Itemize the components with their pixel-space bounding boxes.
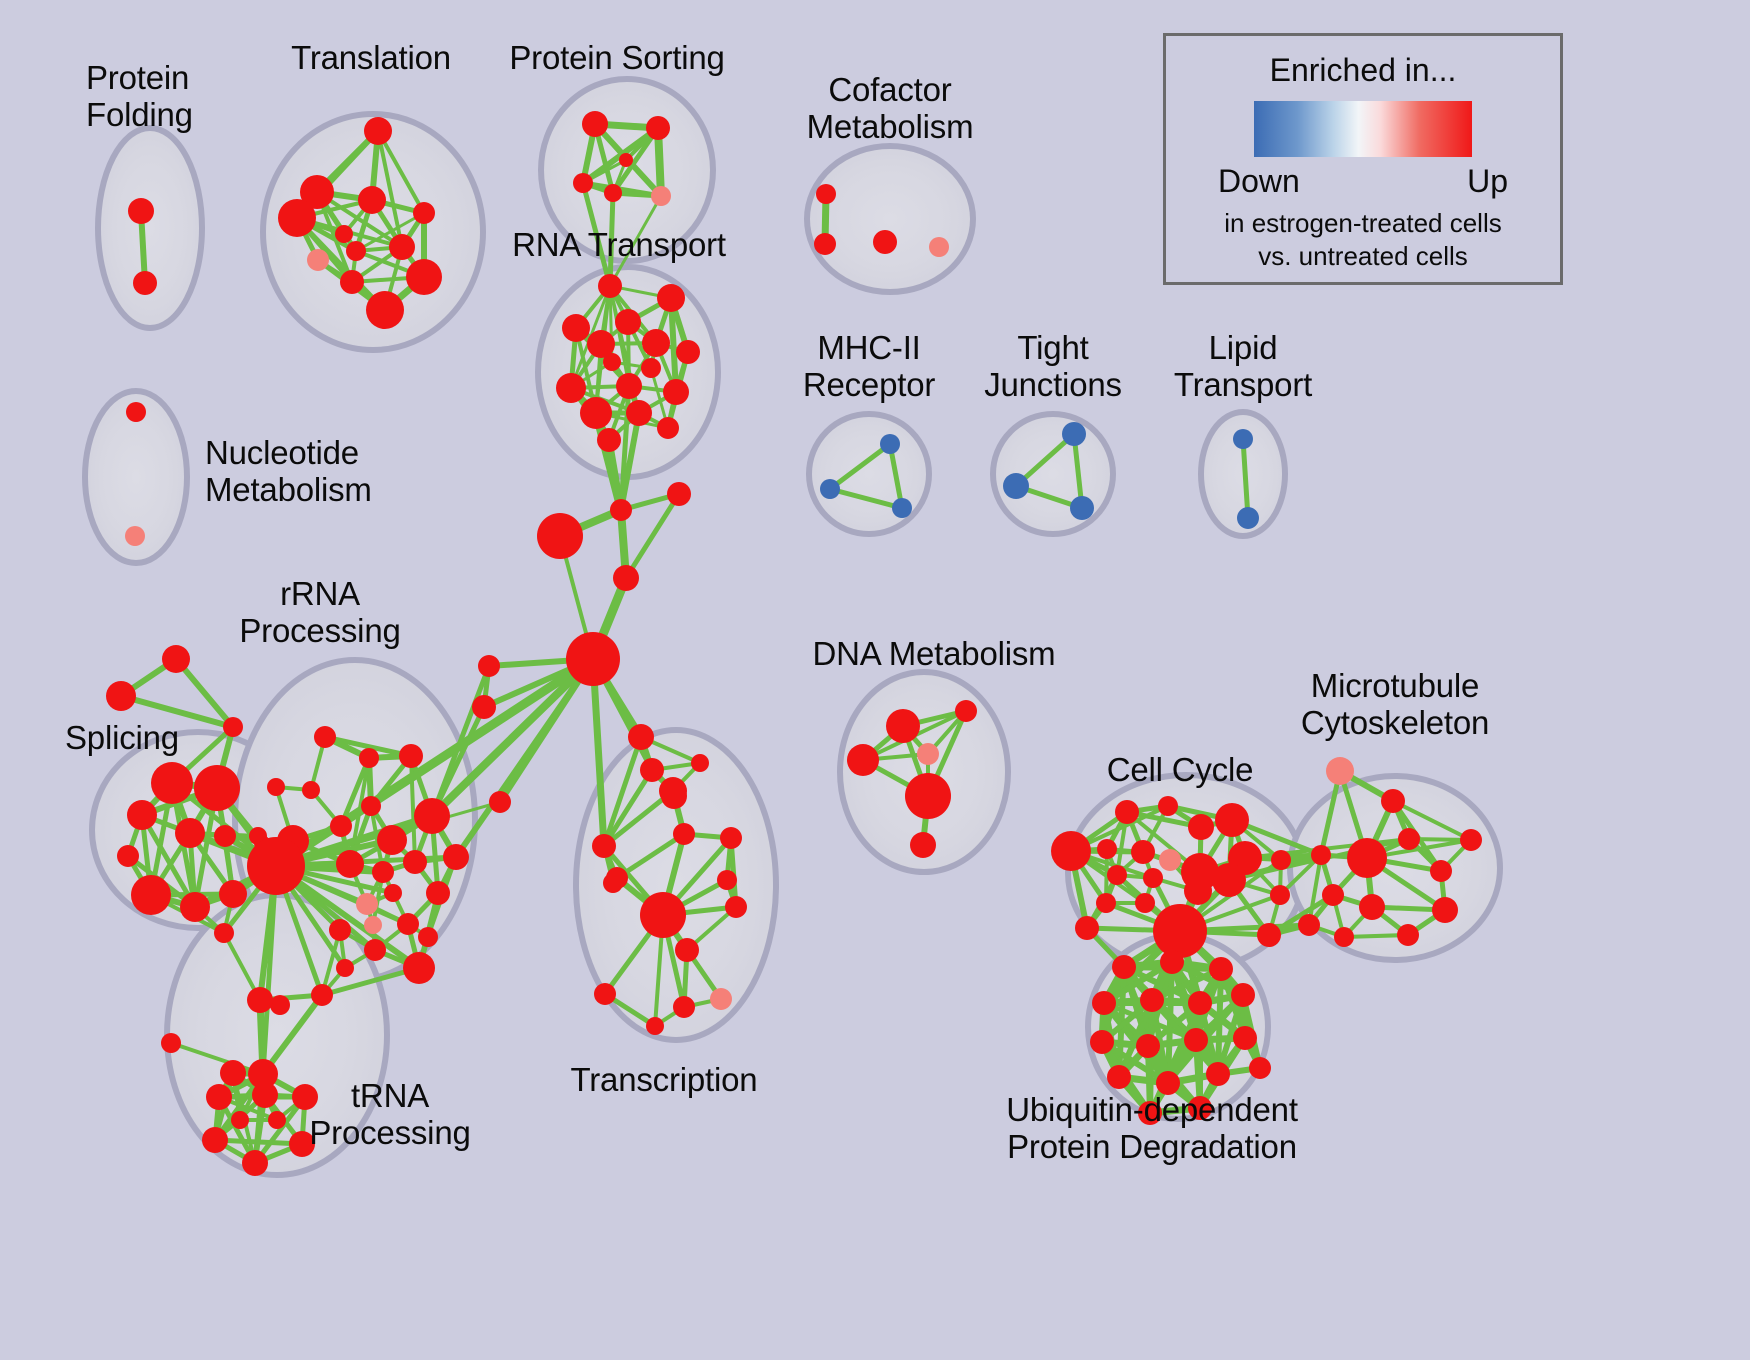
legend-color-gradient bbox=[1254, 101, 1472, 157]
cluster-label-dna-metabolism: DNA Metabolism bbox=[813, 636, 1056, 673]
network-node[interactable] bbox=[329, 919, 351, 941]
network-node[interactable] bbox=[206, 1084, 232, 1110]
network-node[interactable] bbox=[1003, 473, 1029, 499]
network-node[interactable] bbox=[377, 825, 407, 855]
network-node[interactable] bbox=[566, 632, 620, 686]
legend-up-label: Up bbox=[1467, 163, 1508, 200]
network-node[interactable] bbox=[106, 681, 136, 711]
network-node[interactable] bbox=[1381, 789, 1405, 813]
network-node[interactable] bbox=[619, 153, 633, 167]
network-node[interactable] bbox=[403, 952, 435, 984]
network-node[interactable] bbox=[330, 815, 352, 837]
network-node[interactable] bbox=[202, 1127, 228, 1153]
network-node[interactable] bbox=[615, 309, 641, 335]
network-node[interactable] bbox=[657, 284, 685, 312]
network-node[interactable] bbox=[389, 234, 415, 260]
network-node[interactable] bbox=[403, 850, 427, 874]
network-node[interactable] bbox=[1062, 422, 1086, 446]
network-node[interactable] bbox=[880, 434, 900, 454]
network-node[interactable] bbox=[252, 1082, 278, 1108]
network-node[interactable] bbox=[562, 314, 590, 342]
network-node[interactable] bbox=[663, 379, 689, 405]
network-node[interactable] bbox=[161, 1033, 181, 1053]
network-node[interactable] bbox=[151, 762, 193, 804]
network-node[interactable] bbox=[1298, 914, 1320, 936]
network-node[interactable] bbox=[194, 765, 240, 811]
network-node[interactable] bbox=[125, 526, 145, 546]
network-node[interactable] bbox=[816, 184, 836, 204]
network-node[interactable] bbox=[1398, 828, 1420, 850]
cluster-label-cell-cycle: Cell Cycle bbox=[1107, 752, 1254, 789]
cluster-label-nucleotide-metabolism: Nucleotide Metabolism bbox=[205, 435, 372, 509]
network-node[interactable] bbox=[905, 773, 951, 819]
network-node[interactable] bbox=[231, 1111, 249, 1129]
network-node[interactable] bbox=[1311, 845, 1331, 865]
network-node[interactable] bbox=[302, 781, 320, 799]
network-node[interactable] bbox=[676, 340, 700, 364]
network-node[interactable] bbox=[873, 230, 897, 254]
network-node[interactable] bbox=[1206, 1062, 1230, 1086]
network-node[interactable] bbox=[582, 111, 608, 137]
network-node[interactable] bbox=[955, 700, 977, 722]
cluster-label-transcription: Transcription bbox=[571, 1062, 758, 1099]
network-node[interactable] bbox=[1397, 924, 1419, 946]
network-node[interactable] bbox=[1097, 839, 1117, 859]
network-node[interactable] bbox=[1215, 803, 1249, 837]
network-node[interactable] bbox=[268, 1111, 286, 1129]
network-node[interactable] bbox=[220, 1060, 246, 1086]
network-node[interactable] bbox=[364, 117, 392, 145]
network-node[interactable] bbox=[886, 709, 920, 743]
network-node[interactable] bbox=[1131, 840, 1155, 864]
network-node[interactable] bbox=[1233, 429, 1253, 449]
legend-box: Enriched in... Down Up in estrogen-treat… bbox=[1163, 33, 1563, 285]
network-node[interactable] bbox=[820, 479, 840, 499]
network-node[interactable] bbox=[366, 291, 404, 329]
network-node[interactable] bbox=[1096, 893, 1116, 913]
network-node[interactable] bbox=[573, 173, 593, 193]
network-node[interactable] bbox=[1271, 850, 1291, 870]
network-node[interactable] bbox=[556, 373, 586, 403]
network-node[interactable] bbox=[1092, 991, 1116, 1015]
network-node[interactable] bbox=[214, 825, 236, 847]
network-node[interactable] bbox=[180, 892, 210, 922]
network-node[interactable] bbox=[1432, 897, 1458, 923]
network-node[interactable] bbox=[626, 400, 652, 426]
network-node[interactable] bbox=[336, 959, 354, 977]
network-node[interactable] bbox=[278, 199, 316, 237]
cluster-hull-cofactor-metabolism[interactable] bbox=[807, 146, 973, 292]
network-node[interactable] bbox=[311, 984, 333, 1006]
network-node[interactable] bbox=[1159, 849, 1181, 871]
network-node[interactable] bbox=[1257, 923, 1281, 947]
network-node[interactable] bbox=[592, 834, 616, 858]
network-node[interactable] bbox=[1136, 1034, 1160, 1058]
network-node[interactable] bbox=[640, 758, 664, 782]
legend-title: Enriched in... bbox=[1270, 52, 1457, 89]
network-node[interactable] bbox=[443, 844, 469, 870]
network-node[interactable] bbox=[1107, 1065, 1131, 1089]
network-node[interactable] bbox=[640, 892, 686, 938]
network-node[interactable] bbox=[725, 896, 747, 918]
network-node[interactable] bbox=[307, 249, 329, 271]
network-node[interactable] bbox=[1188, 814, 1214, 840]
network-node[interactable] bbox=[413, 202, 435, 224]
network-node[interactable] bbox=[478, 655, 500, 677]
network-node[interactable] bbox=[720, 827, 742, 849]
network-node[interactable] bbox=[847, 744, 879, 776]
network-node[interactable] bbox=[314, 726, 336, 748]
network-node[interactable] bbox=[1326, 757, 1354, 785]
cluster-label-rna-transport: RNA Transport bbox=[512, 227, 726, 264]
network-node[interactable] bbox=[426, 881, 450, 905]
network-node[interactable] bbox=[610, 499, 632, 521]
legend-end-labels: Down Up bbox=[1218, 163, 1508, 200]
network-node[interactable] bbox=[1184, 877, 1212, 905]
network-node[interactable] bbox=[214, 923, 234, 943]
network-node[interactable] bbox=[133, 271, 157, 295]
network-node[interactable] bbox=[162, 645, 190, 673]
network-node[interactable] bbox=[1184, 1028, 1208, 1052]
legend-down-label: Down bbox=[1218, 163, 1300, 200]
network-node[interactable] bbox=[1430, 860, 1452, 882]
cluster-label-trna-processing: tRNA Processing bbox=[309, 1078, 470, 1152]
network-node[interactable] bbox=[597, 428, 621, 452]
network-node[interactable] bbox=[673, 823, 695, 845]
network-node[interactable] bbox=[414, 798, 450, 834]
cluster-label-mhc-ii-receptor: MHC-II Receptor bbox=[803, 330, 935, 404]
network-node[interactable] bbox=[537, 513, 583, 559]
network-node[interactable] bbox=[1188, 991, 1212, 1015]
network-node[interactable] bbox=[364, 916, 382, 934]
network-node[interactable] bbox=[646, 116, 670, 140]
network-node[interactable] bbox=[1075, 916, 1099, 940]
cluster-label-protein-sorting: Protein Sorting bbox=[509, 40, 724, 77]
network-node[interactable] bbox=[667, 482, 691, 506]
enrichment-map-figure: Protein FoldingTranslationProtein Sortin… bbox=[0, 0, 1750, 1360]
network-node[interactable] bbox=[1231, 983, 1255, 1007]
network-node[interactable] bbox=[1237, 507, 1259, 529]
network-node[interactable] bbox=[372, 861, 394, 883]
network-node[interactable] bbox=[361, 796, 381, 816]
network-node[interactable] bbox=[580, 397, 612, 429]
network-node[interactable] bbox=[1107, 865, 1127, 885]
network-node[interactable] bbox=[646, 1017, 664, 1035]
network-node[interactable] bbox=[1140, 988, 1164, 1012]
network-node[interactable] bbox=[489, 791, 511, 813]
network-node[interactable] bbox=[1070, 496, 1094, 520]
network-node[interactable] bbox=[1233, 1026, 1257, 1050]
network-node[interactable] bbox=[603, 873, 623, 893]
network-node[interactable] bbox=[126, 402, 146, 422]
network-node[interactable] bbox=[1209, 957, 1233, 981]
network-node[interactable] bbox=[128, 198, 154, 224]
legend-caption-line1: in estrogen-treated cells bbox=[1224, 208, 1501, 239]
network-node[interactable] bbox=[673, 996, 695, 1018]
network-node[interactable] bbox=[628, 724, 654, 750]
cluster-label-rrna-processing: rRNA Processing bbox=[239, 576, 400, 650]
network-node[interactable] bbox=[604, 184, 622, 202]
network-node[interactable] bbox=[1270, 885, 1290, 905]
cluster-label-splicing: Splicing bbox=[65, 720, 179, 757]
network-node[interactable] bbox=[472, 695, 496, 719]
network-node[interactable] bbox=[219, 880, 247, 908]
network-node[interactable] bbox=[641, 358, 661, 378]
cluster-label-cofactor-metabolism: Cofactor Metabolism bbox=[807, 72, 974, 146]
network-node[interactable] bbox=[1135, 893, 1155, 913]
network-node[interactable] bbox=[892, 498, 912, 518]
cluster-label-tight-junctions: Tight Junctions bbox=[984, 330, 1122, 404]
network-node[interactable] bbox=[223, 717, 243, 737]
cluster-hull-protein-folding[interactable] bbox=[98, 128, 202, 328]
network-node[interactable] bbox=[127, 800, 157, 830]
network-node[interactable] bbox=[616, 373, 642, 399]
cluster-label-microtubule: Microtubule Cytoskeleton bbox=[1301, 668, 1489, 742]
network-node[interactable] bbox=[814, 233, 836, 255]
network-node[interactable] bbox=[418, 927, 438, 947]
network-node[interactable] bbox=[642, 329, 670, 357]
network-node[interactable] bbox=[1347, 838, 1387, 878]
network-node[interactable] bbox=[399, 744, 423, 768]
network-node[interactable] bbox=[358, 186, 386, 214]
network-node[interactable] bbox=[247, 987, 273, 1013]
network-node[interactable] bbox=[270, 995, 290, 1015]
network-node[interactable] bbox=[598, 274, 622, 298]
network-node[interactable] bbox=[117, 845, 139, 867]
network-node[interactable] bbox=[131, 875, 171, 915]
network-node[interactable] bbox=[336, 850, 364, 878]
network-node[interactable] bbox=[356, 893, 378, 915]
network-node[interactable] bbox=[613, 565, 639, 591]
network-node[interactable] bbox=[1160, 950, 1184, 974]
network-node[interactable] bbox=[1051, 831, 1091, 871]
network-node[interactable] bbox=[1143, 868, 1163, 888]
network-node[interactable] bbox=[1153, 904, 1207, 958]
network-node[interactable] bbox=[917, 743, 939, 765]
network-node[interactable] bbox=[346, 241, 366, 261]
network-node[interactable] bbox=[406, 259, 442, 295]
network-node[interactable] bbox=[651, 186, 671, 206]
network-node[interactable] bbox=[1090, 1030, 1114, 1054]
network-node[interactable] bbox=[267, 778, 285, 796]
cluster-label-ubiquitin: Ubiquitin-dependent Protein Degradation bbox=[1006, 1092, 1298, 1166]
network-node[interactable] bbox=[359, 748, 379, 768]
network-node[interactable] bbox=[1158, 796, 1178, 816]
network-node[interactable] bbox=[247, 837, 305, 895]
network-node[interactable] bbox=[1115, 800, 1139, 824]
cluster-label-lipid-transport: Lipid Transport bbox=[1174, 330, 1312, 404]
network-node[interactable] bbox=[364, 939, 386, 961]
cluster-label-translation: Translation bbox=[291, 40, 451, 77]
network-node[interactable] bbox=[691, 754, 709, 772]
network-node[interactable] bbox=[657, 417, 679, 439]
network-node[interactable] bbox=[1112, 955, 1136, 979]
network-node[interactable] bbox=[661, 783, 687, 809]
network-node[interactable] bbox=[1460, 829, 1482, 851]
network-node[interactable] bbox=[384, 884, 402, 902]
network-node[interactable] bbox=[675, 938, 699, 962]
network-node[interactable] bbox=[335, 225, 353, 243]
network-node[interactable] bbox=[710, 988, 732, 1010]
network-node[interactable] bbox=[1322, 884, 1344, 906]
network-node[interactable] bbox=[175, 818, 205, 848]
network-node[interactable] bbox=[594, 983, 616, 1005]
network-node[interactable] bbox=[1359, 894, 1385, 920]
network-node[interactable] bbox=[340, 270, 364, 294]
network-node[interactable] bbox=[242, 1150, 268, 1176]
network-node[interactable] bbox=[1212, 863, 1246, 897]
network-node[interactable] bbox=[1334, 927, 1354, 947]
cluster-hull-mhc-ii-receptor[interactable] bbox=[809, 414, 929, 534]
network-node[interactable] bbox=[603, 353, 621, 371]
network-node[interactable] bbox=[910, 832, 936, 858]
cluster-label-protein-folding: Protein Folding bbox=[86, 60, 193, 134]
network-node[interactable] bbox=[1249, 1057, 1271, 1079]
network-node[interactable] bbox=[717, 870, 737, 890]
network-node[interactable] bbox=[929, 237, 949, 257]
network-node[interactable] bbox=[397, 913, 419, 935]
legend-caption-line2: vs. untreated cells bbox=[1258, 241, 1468, 272]
